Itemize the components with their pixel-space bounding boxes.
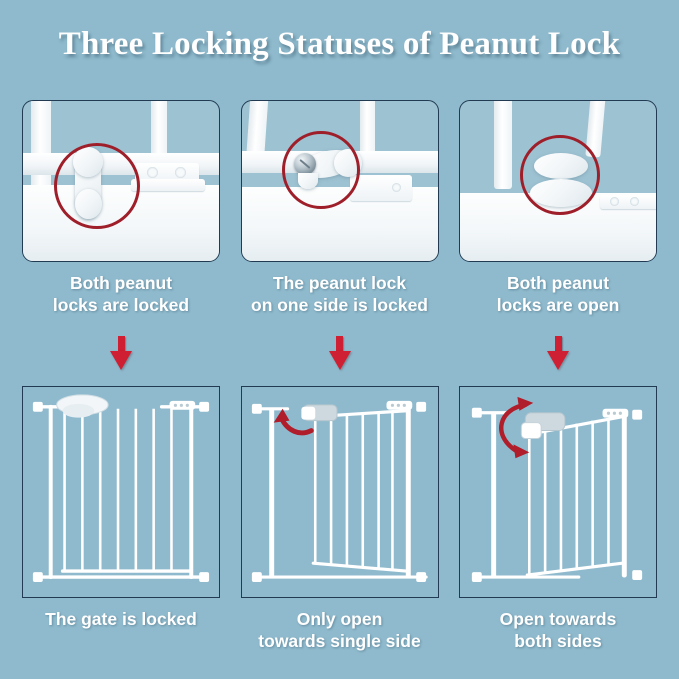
arrow-cell-1 — [22, 336, 220, 370]
gate-panel-open-both-sides — [459, 386, 657, 598]
caption-line: towards single side — [241, 630, 439, 652]
arrow-down-icon — [110, 336, 132, 370]
arrow-row — [0, 336, 679, 370]
gate-closed-illustration — [23, 387, 219, 597]
gate-panel-locked — [22, 386, 220, 598]
lock-caption-both-locked: Both peanut locks are locked — [22, 272, 220, 317]
arrow-cell-2 — [241, 336, 439, 370]
gate-caption-both-sides: Open towards both sides — [459, 608, 657, 653]
gate-handle-icon — [301, 405, 337, 421]
lock-caption-both-open: Both peanut locks are open — [459, 272, 657, 317]
gate-caption-single-side: Only open towards single side — [241, 608, 439, 653]
caption-line: locks are locked — [22, 294, 220, 316]
lock-photo-row — [0, 100, 679, 262]
lock-photo-panel-one-side-locked — [241, 100, 439, 262]
latch-pin-icon — [386, 401, 412, 410]
gate-caption-locked: The gate is locked — [22, 608, 220, 653]
latch-pin-icon — [169, 401, 195, 410]
lock-photo-panel-both-open — [459, 100, 657, 262]
arrow-down-icon — [329, 336, 351, 370]
lock-caption-row: Both peanut locks are locked The peanut … — [0, 272, 679, 317]
highlight-circle — [282, 131, 360, 209]
gate-illustration-row — [0, 386, 679, 598]
caption-line: The gate is locked — [22, 608, 220, 630]
gate-panel-open-single-side — [241, 386, 439, 598]
gate-caption-row: The gate is locked Only open towards sin… — [0, 608, 679, 653]
highlight-circle — [54, 143, 140, 229]
caption-line: Open towards — [459, 608, 657, 630]
page-title: Three Locking Statuses of Peanut Lock — [0, 26, 679, 63]
arrow-cell-3 — [459, 336, 657, 370]
latch-pin-icon — [603, 409, 629, 418]
gate-handle-icon — [521, 413, 565, 439]
caption-line: both sides — [459, 630, 657, 652]
highlight-circle — [520, 135, 600, 215]
lock-caption-one-side-locked: The peanut lock on one side is locked — [241, 272, 439, 317]
caption-line: on one side is locked — [241, 294, 439, 316]
lock-photo-panel-both-locked — [22, 100, 220, 262]
caption-line: The peanut lock — [241, 272, 439, 294]
gate-open-both-illustration — [460, 387, 656, 597]
caption-line: Only open — [241, 608, 439, 630]
caption-line: locks are open — [459, 294, 657, 316]
arrow-down-icon — [547, 336, 569, 370]
gate-open-single-illustration — [242, 387, 438, 597]
caption-line: Both peanut — [459, 272, 657, 294]
caption-line: Both peanut — [22, 272, 220, 294]
